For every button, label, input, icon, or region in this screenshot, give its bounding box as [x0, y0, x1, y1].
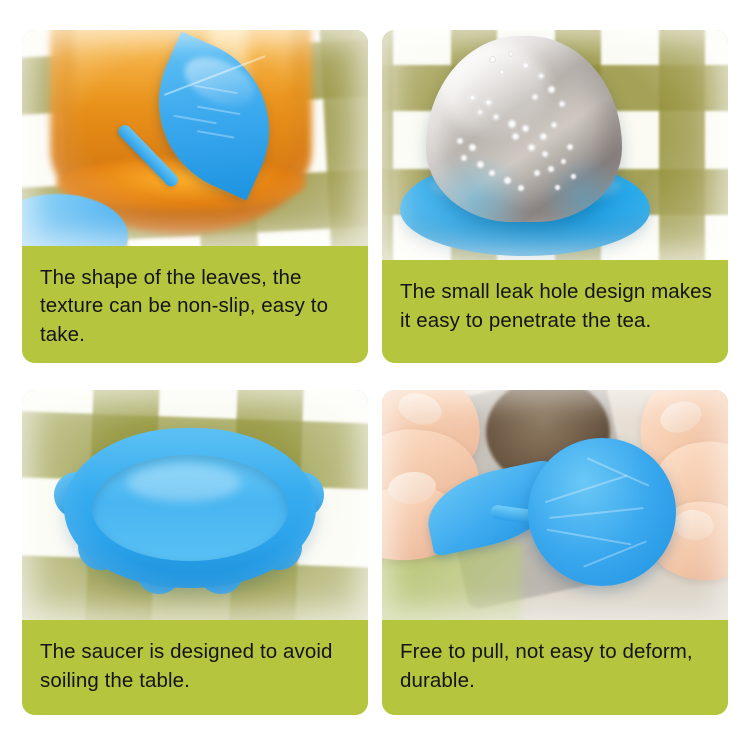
leak-hole-icon: [542, 151, 548, 157]
leak-hole-icon: [512, 133, 519, 140]
leak-hole-icon: [548, 166, 554, 172]
leaf-lid-icon: [528, 438, 676, 586]
leak-hole-icon: [559, 101, 565, 107]
feature-panel-2[interactable]: The small leak hole design makes it easy…: [382, 30, 728, 363]
leak-hole-icon: [538, 73, 544, 79]
leak-hole-icon: [485, 99, 492, 106]
panel-1-caption: The shape of the leaves, the texture can…: [22, 246, 368, 364]
feature-panel-4[interactable]: Free to pull, not easy to deform, durabl…: [382, 390, 728, 715]
leak-hole-icon: [528, 144, 535, 151]
panel-3-photo: [22, 390, 368, 620]
leak-hole-icon: [567, 144, 573, 150]
panel-2-photo: [382, 30, 728, 260]
leak-hole-icon: [469, 144, 476, 151]
leak-hole-icon: [489, 170, 495, 176]
leak-hole-icon: [532, 94, 538, 100]
panel-1-photo: [22, 30, 368, 246]
leak-hole-icon: [477, 161, 484, 168]
leak-hole-icon: [493, 114, 499, 120]
leak-hole-icon: [548, 86, 555, 93]
leaf-vein-icon: [173, 115, 216, 124]
panel-4-photo: [382, 390, 728, 620]
panel-4-caption: Free to pull, not easy to deform, durabl…: [382, 620, 728, 715]
leaf-vein-icon: [197, 130, 235, 138]
leak-hole-icon: [551, 122, 557, 128]
panel-2-caption: The small leak hole design makes it easy…: [382, 260, 728, 363]
blue-scalloped-saucer-icon: [64, 428, 316, 588]
leak-hole-icon: [561, 159, 566, 164]
lid-vein-icon: [587, 457, 650, 487]
leak-hole-icon: [469, 94, 476, 101]
leak-hole-icon: [457, 138, 463, 144]
leak-hole-icon: [508, 120, 516, 128]
leak-hole-icon: [518, 185, 524, 191]
lid-vein-icon: [549, 507, 643, 519]
saucer-basin-icon: [92, 455, 289, 561]
leak-hole-icon: [534, 170, 540, 176]
leak-hole-icon: [540, 133, 547, 140]
leak-hole-icon: [522, 125, 529, 132]
feature-panel-3[interactable]: The saucer is designed to avoid soiling …: [22, 390, 368, 715]
leak-hole-icon: [571, 174, 576, 179]
leak-hole-icon: [477, 109, 483, 115]
product-feature-sheet: The shape of the leaves, the texture can…: [0, 0, 750, 750]
lid-vein-icon: [546, 528, 631, 545]
panel-3-caption: The saucer is designed to avoid soiling …: [22, 620, 368, 715]
leak-hole-icon: [522, 62, 529, 69]
lid-vein-icon: [545, 475, 627, 503]
leaf-vein-icon: [196, 106, 239, 115]
feature-panel-1[interactable]: The shape of the leaves, the texture can…: [22, 30, 368, 363]
feature-panel-grid: The shape of the leaves, the texture can…: [22, 30, 728, 715]
lid-vein-icon: [583, 541, 647, 568]
